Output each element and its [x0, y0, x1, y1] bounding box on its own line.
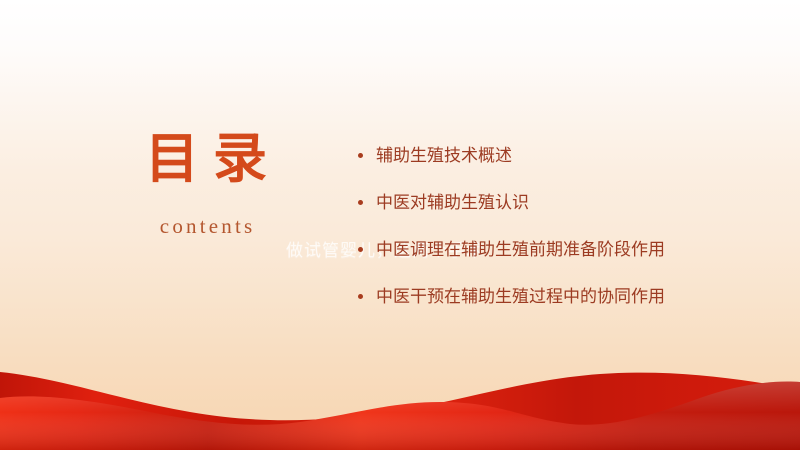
bullet-dot-icon — [358, 200, 363, 205]
wave-path-rear — [0, 372, 800, 450]
toc-item-label: 中医干预在辅助生殖过程中的协同作用 — [376, 287, 665, 307]
table-of-contents: 辅助生殖技术概述 中医对辅助生殖认识 中医调理在辅助生殖前期准备阶段作用 中医干… — [356, 140, 724, 315]
bullet-dot-icon — [358, 294, 363, 299]
wave-shading-overlay — [0, 382, 800, 450]
bottom-wave-decoration — [0, 360, 800, 450]
toc-item-label: 中医对辅助生殖认识 — [376, 193, 529, 213]
wave-path-front — [0, 382, 800, 450]
list-item[interactable]: 中医干预在辅助生殖过程中的协同作用 — [356, 281, 724, 314]
page-title-cn: 目录 — [96, 128, 316, 190]
bullet-dot-icon — [358, 153, 363, 158]
page-title-en: contents — [96, 214, 316, 239]
toc-item-label: 辅助生殖技术概述 — [376, 146, 512, 166]
list-item[interactable]: 中医对辅助生殖认识 — [356, 187, 724, 220]
list-item[interactable]: 辅助生殖技术概述 — [356, 140, 724, 173]
title-block: 目录 contents — [96, 128, 316, 239]
presentation-slide: 目录 contents 做试管婴儿，这两个手术 辅助生殖技术概述 中医对辅助生殖… — [0, 0, 800, 450]
toc-item-label: 中医调理在辅助生殖前期准备阶段作用 — [376, 240, 665, 260]
list-item[interactable]: 中医调理在辅助生殖前期准备阶段作用 — [356, 234, 724, 267]
bullet-dot-icon — [358, 247, 363, 252]
